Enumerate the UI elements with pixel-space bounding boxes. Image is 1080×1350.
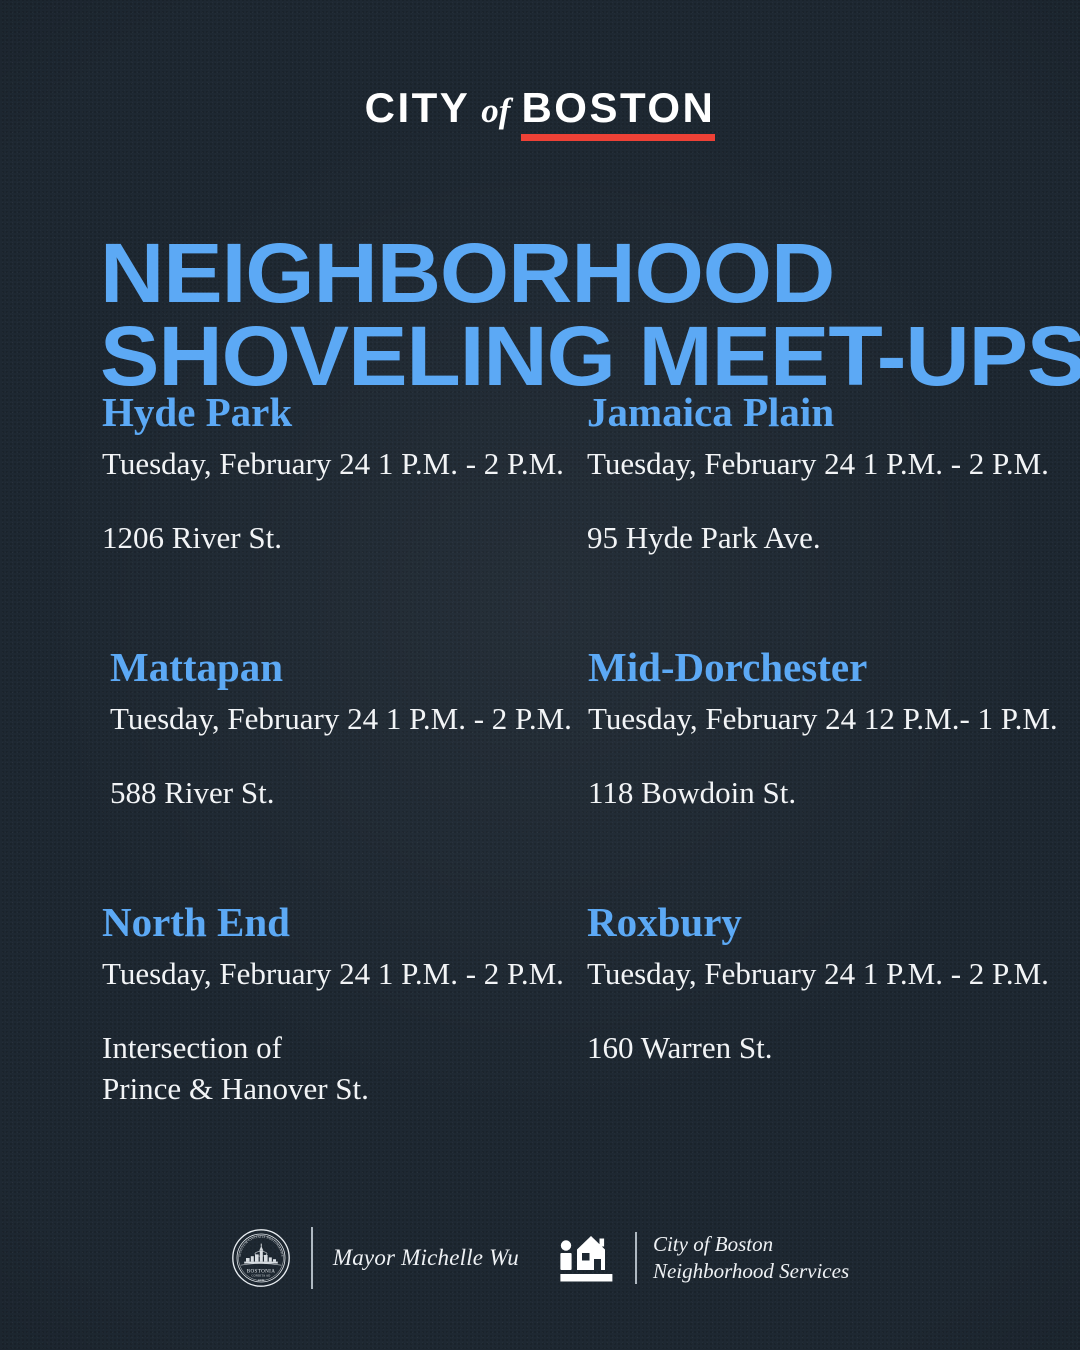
- neighborhood-name: Roxbury: [587, 902, 1057, 943]
- meetup-card-hyde-park: Hyde Park Tuesday, February 24 1 P.M. - …: [102, 392, 572, 558]
- wordmark-boston-text: BOSTON: [521, 84, 715, 131]
- meetup-datetime: Tuesday, February 24 1 P.M. - 2 P.M.: [587, 953, 1057, 994]
- meetup-time: 12 P.M.- 1 P.M.: [864, 701, 1058, 736]
- meetup-datetime: Tuesday, February 24 1 P.M. - 2 P.M.: [102, 443, 572, 484]
- neighborhood-name: Mattapan: [110, 647, 572, 688]
- meetup-row: Mattapan Tuesday, February 24 1 P.M. - 2…: [0, 647, 1080, 902]
- meetup-address: 588 River St.: [110, 772, 572, 813]
- page-title-line-2: SHOVELING MEET-UPS: [100, 315, 1075, 397]
- meetup-address-line: Prince & Hanover St.: [102, 1068, 572, 1109]
- boston-city-seal-icon: BOSTONIA CONDITA AD 1630 SIGILLUM CIVITA…: [231, 1228, 291, 1288]
- meetup-time: 1 P.M. - 2 P.M.: [386, 701, 572, 736]
- neighborhood-name: Jamaica Plain: [587, 392, 1057, 433]
- meetup-address: 118 Bowdoin St.: [588, 772, 1058, 813]
- meetup-grid: Hyde Park Tuesday, February 24 1 P.M. - …: [0, 392, 1080, 1157]
- page-title: NEIGHBORHOOD SHOVELING MEET-UPS: [100, 232, 1075, 397]
- meetup-row: North End Tuesday, February 24 1 P.M. - …: [0, 902, 1080, 1157]
- seal-year-text: 1630: [258, 1278, 265, 1282]
- meetup-card-jamaica-plain: Jamaica Plain Tuesday, February 24 1 P.M…: [587, 392, 1057, 558]
- neighborhood-services-lockup: City of Boston Neighborhood Services: [557, 1231, 849, 1285]
- wordmark-of-text: of: [470, 91, 521, 130]
- meetup-address-line: 160 Warren St.: [587, 1027, 1057, 1068]
- neighborhood-name: Hyde Park: [102, 392, 572, 433]
- meetup-date: Tuesday, February 24: [102, 956, 370, 991]
- meetup-date: Tuesday, February 24: [587, 956, 855, 991]
- house-and-person-icon: [557, 1231, 619, 1285]
- meetup-date: Tuesday, February 24: [110, 701, 378, 736]
- page-title-line-1: NEIGHBORHOOD: [100, 232, 1075, 314]
- meetup-address-line: 95 Hyde Park Ave.: [587, 517, 1057, 558]
- meetup-time: 1 P.M. - 2 P.M.: [378, 446, 564, 481]
- meetup-address-line: 1206 River St.: [102, 517, 572, 558]
- meetup-card-mid-dorchester: Mid-Dorchester Tuesday, February 24 12 P…: [588, 647, 1058, 813]
- meetup-datetime: Tuesday, February 24 12 P.M.- 1 P.M.: [588, 698, 1058, 739]
- meetup-card-north-end: North End Tuesday, February 24 1 P.M. - …: [102, 902, 572, 1110]
- meetup-address: Intersection of Prince & Hanover St.: [102, 1027, 572, 1109]
- meetup-time: 1 P.M. - 2 P.M.: [378, 956, 564, 991]
- meetup-date: Tuesday, February 24: [587, 446, 855, 481]
- footer-divider: [635, 1232, 637, 1284]
- footer-divider: [311, 1227, 313, 1289]
- meetup-time: 1 P.M. - 2 P.M.: [863, 956, 1049, 991]
- meetup-datetime: Tuesday, February 24 1 P.M. - 2 P.M.: [587, 443, 1057, 484]
- meetup-time: 1 P.M. - 2 P.M.: [863, 446, 1049, 481]
- meetup-card-roxbury: Roxbury Tuesday, February 24 1 P.M. - 2 …: [587, 902, 1057, 1068]
- wordmark-boston-group: BOSTON: [521, 84, 715, 141]
- footer-lockups: BOSTONIA CONDITA AD 1630 SIGILLUM CIVITA…: [0, 1208, 1080, 1308]
- meetup-datetime: Tuesday, February 24 1 P.M. - 2 P.M.: [110, 698, 572, 739]
- city-of-boston-wordmark: CITYofBOSTON: [0, 84, 1080, 141]
- seal-motto-text: CONDITA AD: [251, 1275, 270, 1278]
- meetup-address-line: 588 River St.: [110, 772, 572, 813]
- meetup-date: Tuesday, February 24: [102, 446, 370, 481]
- meetup-row: Hyde Park Tuesday, February 24 1 P.M. - …: [0, 392, 1080, 647]
- seal-name-text: BOSTONIA: [247, 1268, 276, 1274]
- department-line-2: Neighborhood Services: [653, 1258, 849, 1285]
- department-line-1: City of Boston: [653, 1231, 849, 1258]
- poster-canvas: CITYofBOSTON NEIGHBORHOOD SHOVELING MEET…: [0, 0, 1080, 1350]
- meetup-datetime: Tuesday, February 24 1 P.M. - 2 P.M.: [102, 953, 572, 994]
- meetup-address: 95 Hyde Park Ave.: [587, 517, 1057, 558]
- neighborhood-name: Mid-Dorchester: [588, 647, 1058, 688]
- meetup-address-line: Intersection of: [102, 1027, 572, 1068]
- meetup-card-mattapan: Mattapan Tuesday, February 24 1 P.M. - 2…: [110, 647, 572, 813]
- mayor-name-label: Mayor Michelle Wu: [333, 1245, 519, 1271]
- wordmark-city-text: CITY: [365, 84, 471, 131]
- meetup-address: 1206 River St.: [102, 517, 572, 558]
- meetup-address-line: 118 Bowdoin St.: [588, 772, 1058, 813]
- department-name-label: City of Boston Neighborhood Services: [653, 1231, 849, 1285]
- mayor-lockup: BOSTONIA CONDITA AD 1630 SIGILLUM CIVITA…: [231, 1227, 519, 1289]
- wordmark-red-underline: [521, 134, 715, 141]
- meetup-address: 160 Warren St.: [587, 1027, 1057, 1068]
- neighborhood-name: North End: [102, 902, 572, 943]
- meetup-date: Tuesday, February 24: [588, 701, 856, 736]
